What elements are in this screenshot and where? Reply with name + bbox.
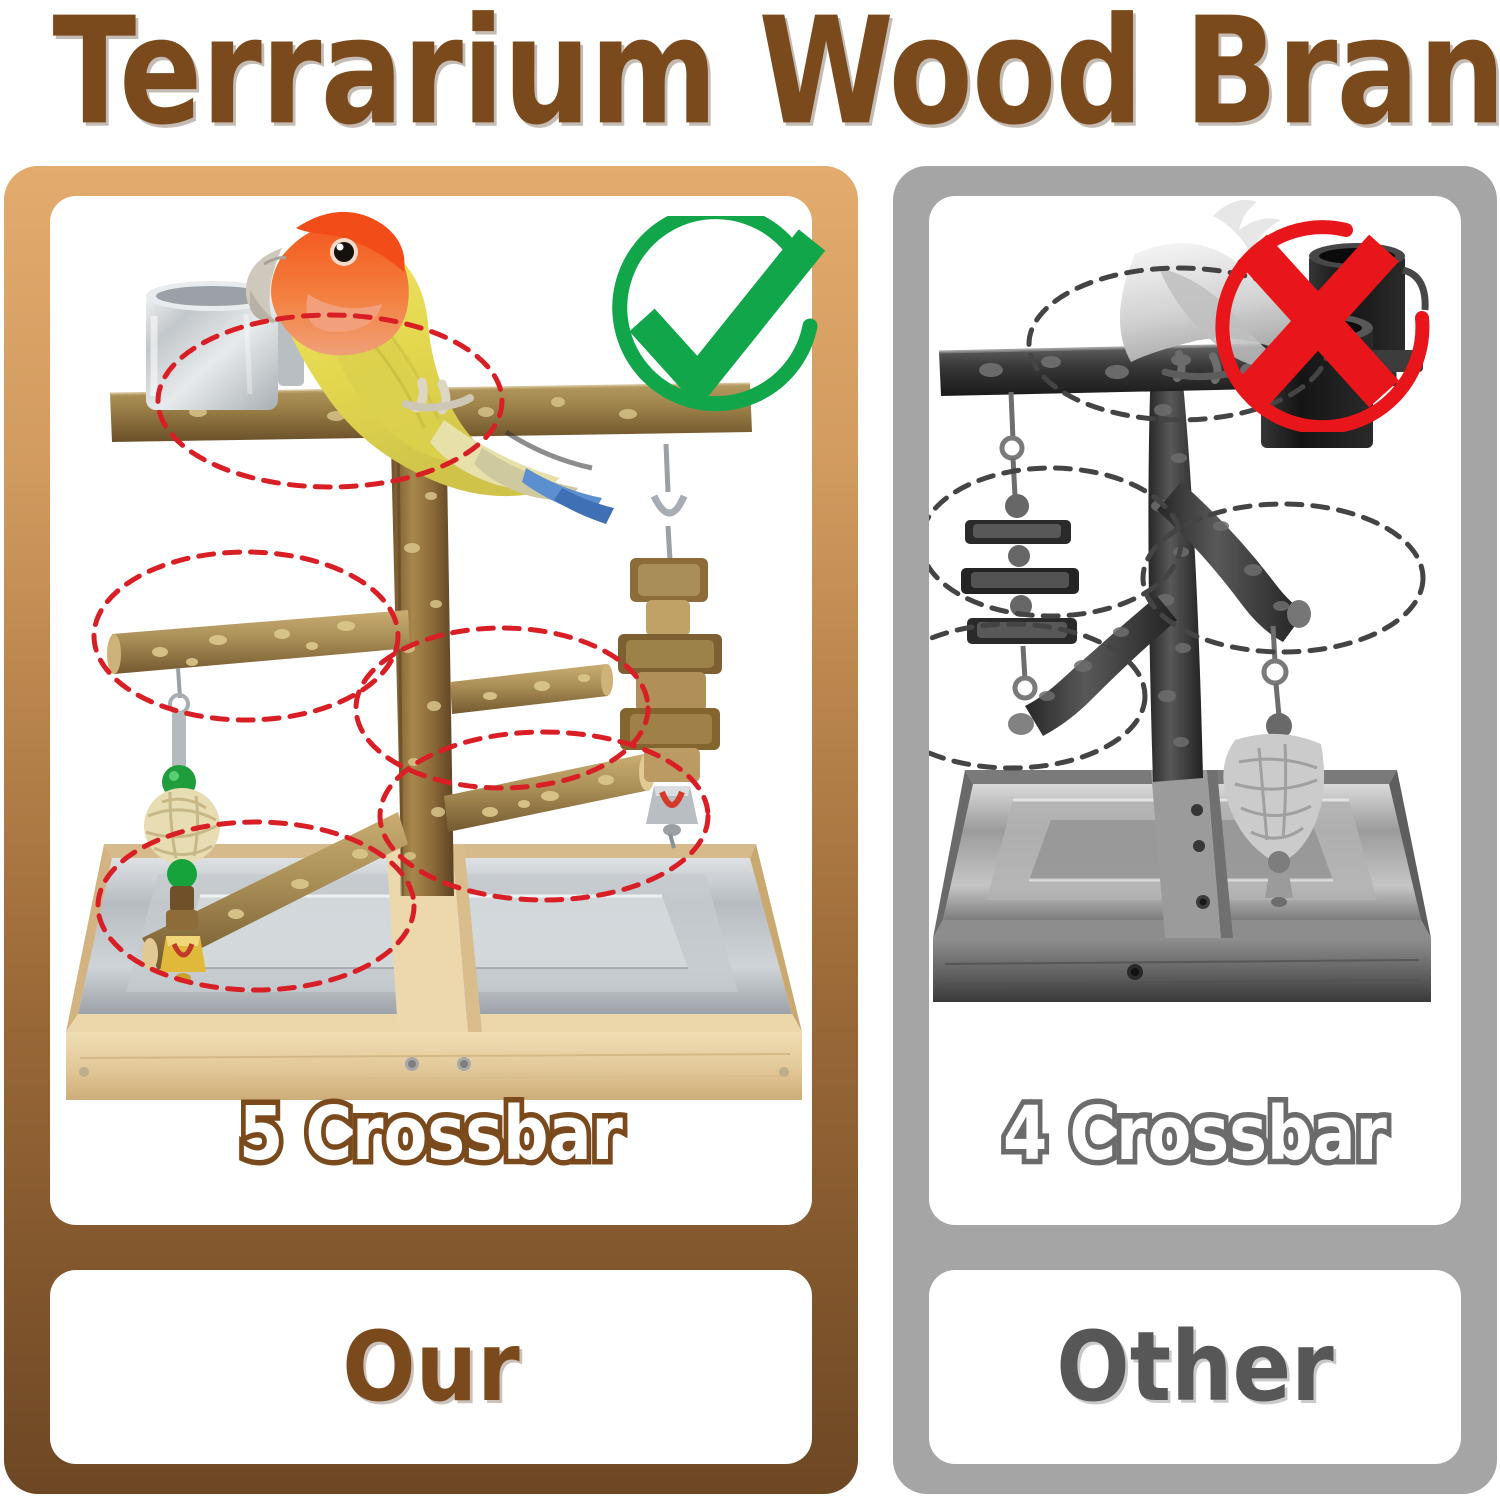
main-post <box>1148 360 1203 782</box>
crossbar-3 <box>450 664 613 714</box>
crossbar-2 <box>107 610 410 674</box>
page-title: Terrarium Wood Branches <box>53 0 1448 150</box>
other-caption-text: Other <box>956 1270 1435 1464</box>
other-caption-card: Other <box>929 1270 1461 1464</box>
other-crossbar-label: 4 Crossbar <box>966 1092 1424 1176</box>
check-icon <box>598 216 828 431</box>
crossbar-4 <box>444 753 655 832</box>
base-tray <box>933 770 1431 1002</box>
infographic-root: Terrarium Wood Branches <box>0 0 1500 1497</box>
our-crossbar-label: 5 Crossbar <box>103 1092 758 1176</box>
cross-icon <box>1196 214 1434 432</box>
our-caption-card: Our <box>50 1270 812 1464</box>
chew-toy-left <box>961 392 1079 698</box>
our-caption-text: Our <box>88 1270 774 1464</box>
